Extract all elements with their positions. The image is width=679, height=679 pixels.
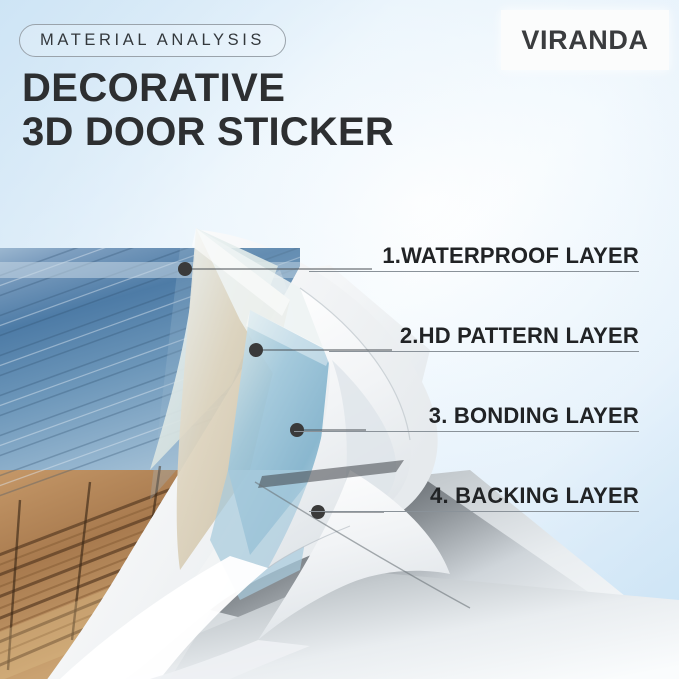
layer-label-1-rule — [309, 271, 639, 272]
material-analysis-badge: MATERIAL ANALYSIS — [19, 24, 286, 57]
badge-label: MATERIAL ANALYSIS — [40, 31, 265, 50]
title-line-2: 3D DOOR STICKER — [22, 110, 394, 154]
layer-label-1: 1.WATERPROOF LAYER — [309, 243, 639, 272]
layer-label-2-rule — [329, 351, 639, 352]
brand-name: VIRANDA — [521, 25, 648, 56]
layer-label-2: 2.HD PATTERN LAYER — [329, 323, 639, 352]
layer-label-4-text: 4. BACKING LAYER — [309, 483, 639, 509]
layer-label-1-text: 1.WATERPROOF LAYER — [309, 243, 639, 269]
page-title: DECORATIVE 3D DOOR STICKER — [22, 66, 394, 154]
layer-label-3-text: 3. BONDING LAYER — [294, 403, 639, 429]
layer-label-3: 3. BONDING LAYER — [294, 403, 639, 432]
layer-label-4: 4. BACKING LAYER — [309, 483, 639, 512]
brand-logo-box: VIRANDA — [501, 10, 669, 70]
layer-label-3-rule — [294, 431, 639, 432]
layer-label-4-rule — [309, 511, 639, 512]
product-infographic: MATERIAL ANALYSIS DECORATIVE 3D DOOR STI… — [0, 0, 679, 679]
title-line-1: DECORATIVE — [22, 66, 394, 110]
layer-label-2-text: 2.HD PATTERN LAYER — [329, 323, 639, 349]
